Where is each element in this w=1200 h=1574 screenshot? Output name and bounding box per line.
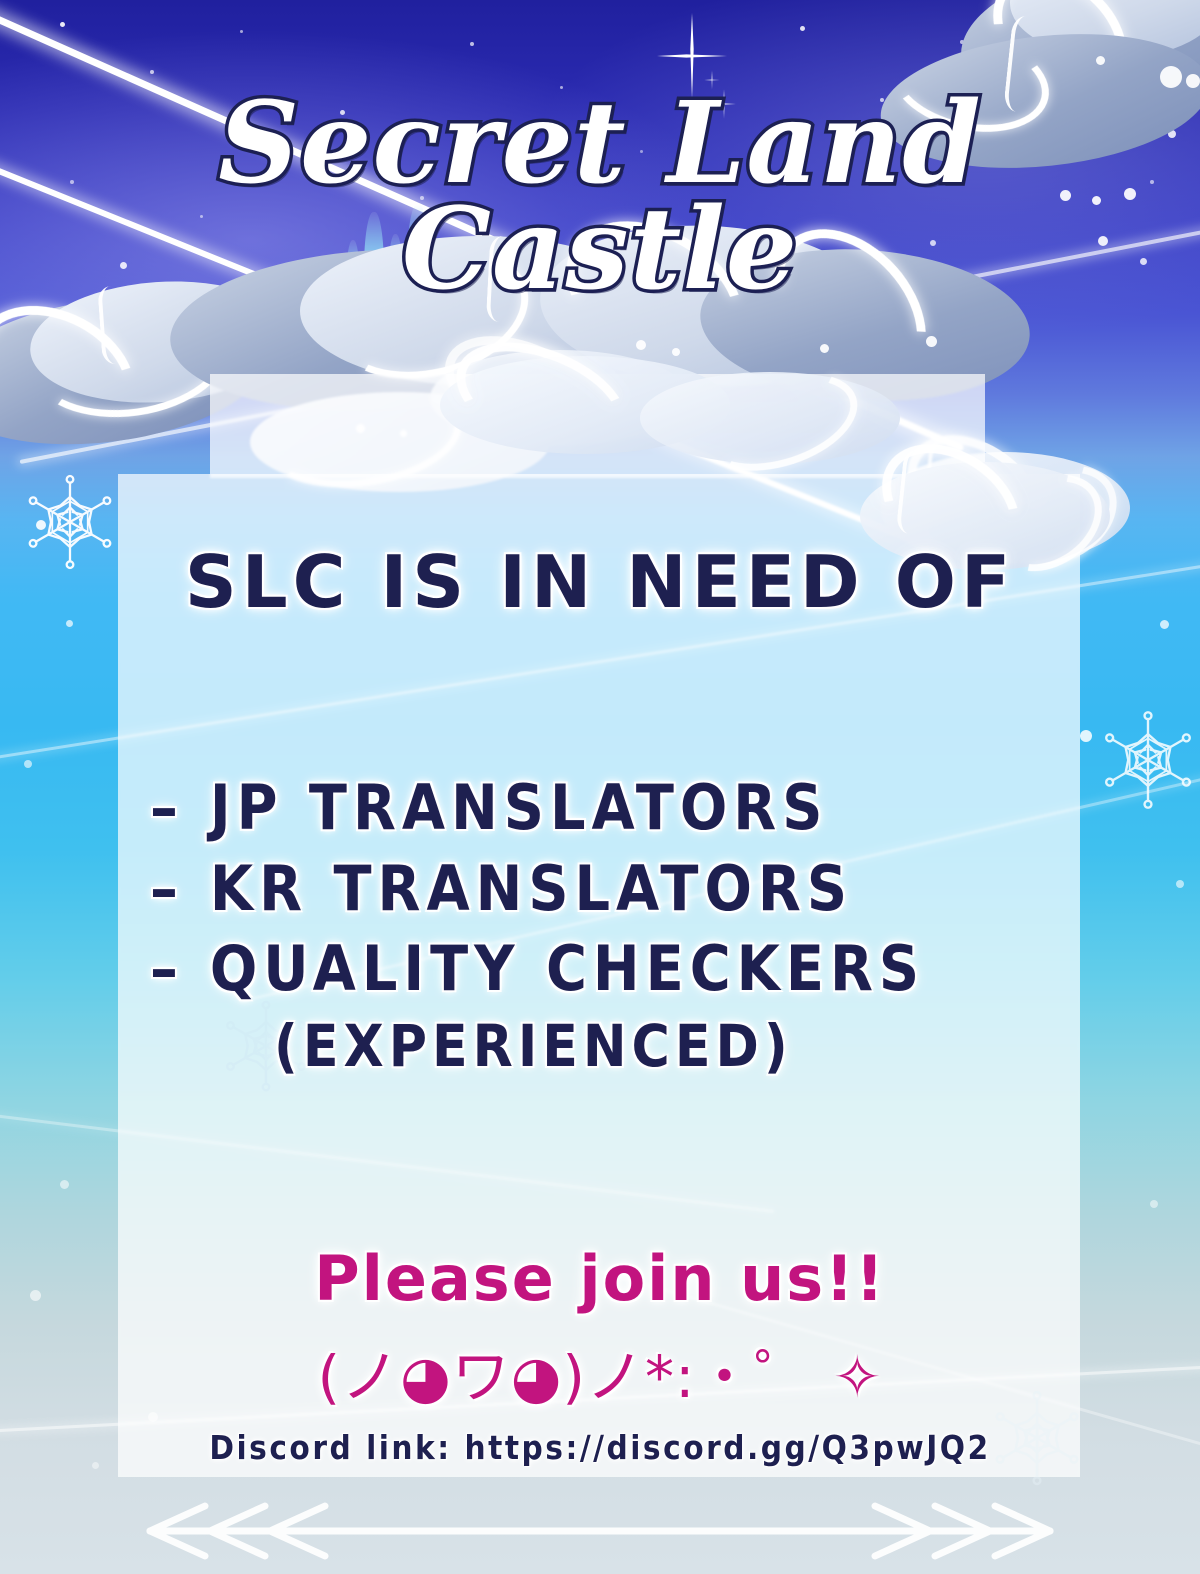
discord-link[interactable]: Discord link: https://discord.gg/Q3pwJQ2: [0, 1428, 1200, 1467]
needs-list: – JP TRANSLATORS – KR TRANSLATORS – QUAL…: [150, 768, 1050, 1082]
dash-icon: –: [150, 929, 184, 1010]
double-arrow-divider-icon: [110, 1500, 1090, 1564]
join-call-to-action: Please join us!!: [0, 1242, 1200, 1315]
list-item-label: KR TRANSLATORS: [210, 849, 853, 930]
headline: SLC IS IN NEED OF: [0, 540, 1200, 624]
list-item-subnote: (EXPERIENCED): [274, 1010, 1050, 1083]
list-item-label: JP TRANSLATORS: [210, 768, 829, 849]
snowflake-icon-right: [1094, 706, 1200, 814]
list-item-label: QUALITY CHECKERS: [210, 929, 925, 1010]
list-item: – KR TRANSLATORS: [150, 849, 1050, 930]
poster-canvas: Secret Land Castle SLC IS IN NEED OF – J…: [0, 0, 1200, 1574]
list-item: – JP TRANSLATORS: [150, 768, 1050, 849]
dash-icon: –: [150, 849, 184, 930]
list-item: – QUALITY CHECKERS: [150, 929, 1050, 1010]
kaomoji-emoticon: (ノ◕ワ◕)ノ*:・゜ ✧: [0, 1330, 1200, 1414]
dash-icon: –: [150, 768, 184, 849]
